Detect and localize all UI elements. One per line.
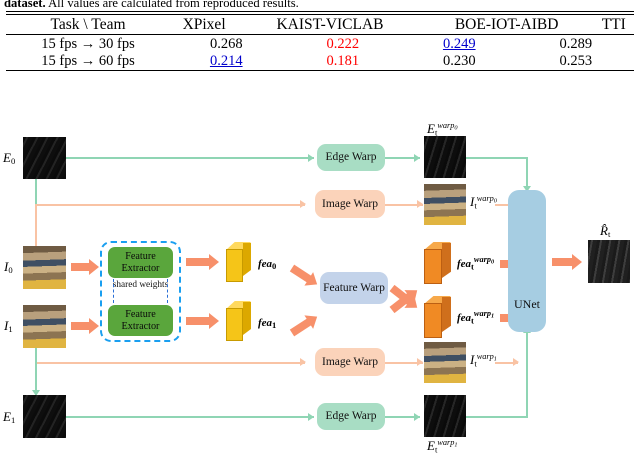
cell-60fps-tti: 0.253 — [518, 53, 635, 70]
line-e0-to-edge-warp — [66, 157, 314, 159]
arrow-i0-to-extractor — [71, 259, 99, 275]
label-output-rhat: R̂t — [600, 223, 610, 239]
arrow-fea0-to-feature-warp — [288, 261, 322, 291]
shared-weights-label: shared weights — [108, 280, 173, 290]
arrowhead-edge-thumb-bottom-in — [414, 413, 420, 421]
label-fea-warp0: featwarp0 — [457, 255, 494, 271]
feature-warp-label: Feature Warp — [323, 282, 385, 295]
feature-warp-block: Feature Warp — [320, 272, 388, 304]
arrow-extractor-to-fea0 — [186, 254, 219, 270]
column-header-boe-iot-aibd: BOE-IOT-AIBD — [420, 16, 594, 34]
thumbnail-edge-e0 — [23, 137, 66, 179]
figure-caption: dataset. All values are calculated from … — [4, 0, 638, 10]
table-header-row: Task \ Team XPixel KAIST-VICLAB BOE-IOT-… — [6, 16, 634, 34]
feature-extractor-top-label: Feature Extractor — [108, 251, 173, 274]
edge-warp-top-label: Edge Warp — [326, 151, 377, 164]
caption-bold-lead: dataset. — [4, 0, 46, 10]
edge-warp-top-block: Edge Warp — [317, 144, 385, 171]
label-e0: E0 — [3, 150, 15, 166]
caption-rest: All values are calculated from reproduce… — [46, 0, 299, 10]
thumbnail-edge-e1 — [23, 395, 66, 438]
line-i1-to-image-warp — [35, 362, 305, 364]
feature-extractor-bottom-label: Feature Extractor — [108, 309, 173, 332]
arrowhead-edge-warp-bottom-in — [308, 413, 314, 421]
line-edge-bottom-elbow-v — [526, 332, 528, 418]
line-edge-bottom-elbow-h — [466, 416, 528, 418]
cell-30fps-xpixel: 0.268 — [168, 36, 285, 53]
line-e1-to-edge-warp — [66, 416, 314, 418]
column-header-task: Task \ Team — [6, 16, 168, 34]
label-i1: I1 — [4, 318, 13, 334]
results-table-wrapper: Task \ Team XPixel KAIST-VICLAB BOE-IOT-… — [6, 11, 634, 73]
image-warp-top-block: Image Warp — [315, 190, 385, 218]
label-image-warp0: Itwarp0 — [470, 194, 497, 210]
column-header-xpixel: XPixel — [168, 16, 240, 34]
results-table: Task \ Team XPixel KAIST-VICLAB BOE-IOT-… — [6, 16, 634, 34]
arrowhead-image-thumb-top-in — [417, 200, 423, 208]
arrowhead-iwarp1-unet — [513, 358, 519, 366]
thumbnail-edge-warp0 — [424, 136, 466, 178]
label-edge-warp0: Etwarp0 — [427, 121, 458, 137]
architecture-diagram: E0 I0 I1 E1 Feature Extractor Feature Ex… — [0, 120, 640, 458]
thumbnail-edge-warp1 — [424, 395, 466, 437]
tensor-fea-warp1 — [424, 296, 452, 340]
arrowhead-image-warp-bottom-in — [300, 358, 306, 366]
arrowhead-image-warp-top-in — [300, 200, 306, 208]
tensor-fea-warp0 — [424, 242, 452, 286]
line-i0-to-image-warp — [35, 204, 305, 206]
thumbnail-image-i0 — [23, 246, 66, 289]
arrow-i1-to-extractor — [71, 318, 99, 334]
cell-30fps-boe-iot-aibd: 0.249 — [401, 36, 518, 53]
unet-block: UNet — [508, 190, 546, 332]
arrowhead-image-thumb-bottom-in — [417, 358, 423, 366]
label-e1: E1 — [3, 409, 15, 425]
cell-60fps-xpixel: 0.214 — [168, 53, 285, 70]
tensor-fea1 — [226, 301, 252, 343]
row-label-30fps: 15 fps → 30 fps — [6, 36, 168, 53]
label-fea1: fea1 — [258, 317, 276, 330]
tensor-fea0 — [226, 242, 252, 284]
table-row: 15 fps → 60 fps 0.214 0.181 0.230 0.253 — [6, 53, 634, 70]
thumbnail-image-i1 — [23, 305, 66, 348]
thumbnail-image-warp1 — [424, 342, 466, 383]
cell-30fps-tti: 0.289 — [518, 36, 635, 53]
row-label-60fps: 15 fps → 60 fps — [6, 53, 168, 70]
cell-30fps-kaist-viclab: 0.222 — [285, 36, 402, 53]
feature-extractor-bottom: Feature Extractor — [108, 305, 173, 336]
feature-extractor-top: Feature Extractor — [108, 247, 173, 278]
edge-warp-bottom-label: Edge Warp — [326, 410, 377, 423]
image-warp-bottom-block: Image Warp — [315, 348, 385, 376]
table-row: 15 fps → 30 fps 0.268 0.222 0.249 0.289 — [6, 36, 634, 53]
shared-weight-arrow-right — [167, 279, 168, 303]
unet-label: UNet — [514, 298, 540, 311]
arrow-fea1-to-feature-warp — [288, 310, 322, 340]
label-image-warp1: Itwarp1 — [470, 352, 497, 368]
arrowhead-edge-warp-top-in — [308, 154, 314, 162]
arrow-unet-to-output — [552, 254, 582, 270]
cell-60fps-kaist-viclab: 0.181 — [285, 53, 402, 70]
line-edge-top-elbow-h — [466, 157, 528, 159]
column-header-kaist-viclab: KAIST-VICLAB — [240, 16, 420, 34]
results-table-body: 15 fps → 30 fps 0.268 0.222 0.249 0.289 … — [6, 36, 634, 70]
table-rule-bottom — [6, 70, 634, 73]
image-warp-bottom-label: Image Warp — [322, 356, 378, 369]
label-fea0: fea0 — [258, 258, 276, 271]
image-warp-top-label: Image Warp — [322, 198, 378, 211]
label-fea-warp1: featwarp1 — [457, 309, 494, 325]
shared-weight-arrow-left — [113, 279, 114, 303]
column-header-tti: TTI — [594, 16, 634, 34]
cell-60fps-boe-iot-aibd: 0.230 — [401, 53, 518, 70]
edge-warp-bottom-block: Edge Warp — [317, 403, 385, 430]
label-edge-warp1: Etwarp1 — [427, 438, 458, 454]
thumbnail-output-rhat — [588, 240, 630, 283]
arrow-extractor-to-fea1 — [186, 313, 219, 329]
thumbnail-image-warp0 — [424, 184, 466, 225]
arrowhead-edge-thumb-top-in — [414, 154, 420, 162]
label-i0: I0 — [4, 259, 13, 275]
